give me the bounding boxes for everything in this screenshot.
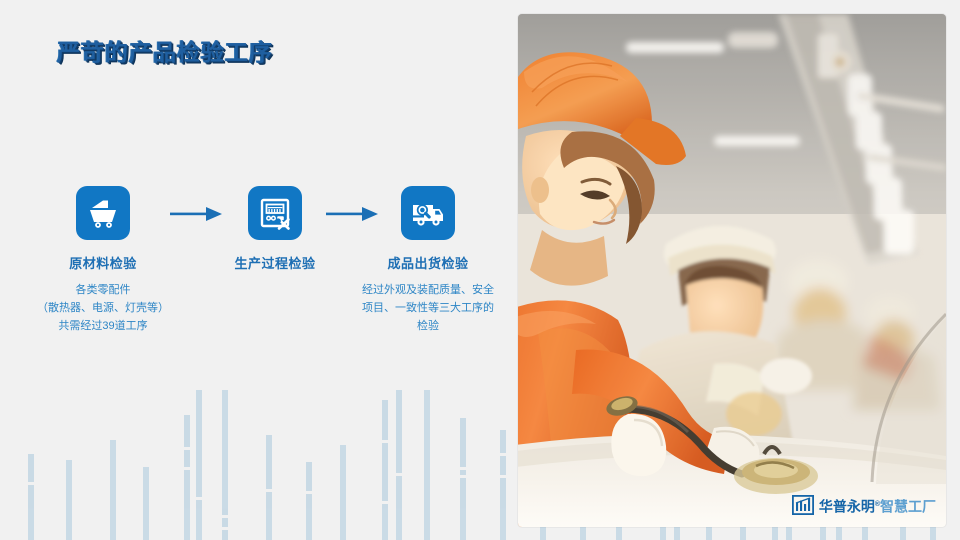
decorative-bar-gap xyxy=(184,447,190,450)
truck-inspection-icon xyxy=(401,186,455,240)
decorative-bar xyxy=(184,415,190,540)
decorative-bar xyxy=(28,454,34,540)
decorative-bar-gap xyxy=(222,527,228,530)
desc-line: 共需经过39道工序 xyxy=(8,317,198,335)
decorative-bar-gap xyxy=(266,489,272,492)
decorative-bar xyxy=(222,390,228,540)
process-step-description: 各类零配件 （散热器、电源、灯壳等） 共需经过39道工序 xyxy=(8,281,198,335)
decorative-bar-gap xyxy=(184,467,190,470)
desc-line: （散热器、电源、灯壳等） xyxy=(8,299,198,317)
decorative-bar xyxy=(110,440,116,540)
process-step-description: 经过外观及装配质量、安全 项目、一致性等三大工序的 检验 xyxy=(333,281,523,335)
decorative-bar xyxy=(396,390,402,540)
decorative-bar-gap xyxy=(396,473,402,476)
decorative-bar-gap xyxy=(382,440,388,443)
decorative-bar-gap xyxy=(196,497,202,500)
decorative-bar xyxy=(143,467,149,540)
page-title: 严苛的产品检验工序 xyxy=(57,33,273,67)
desc-line: 检验 xyxy=(333,317,523,335)
factory-logo-icon xyxy=(792,495,814,515)
brand-suffix: 智慧工厂 xyxy=(880,499,936,515)
decorative-bar xyxy=(196,390,202,540)
decorative-bar xyxy=(266,435,272,540)
decorative-bar-gap xyxy=(306,491,312,494)
inspection-process-flow: 原材料检验 各类零配件 （散热器、电源、灯壳等） 共需经过39道工序 xyxy=(0,186,512,366)
decorative-bar xyxy=(424,390,430,540)
process-step-label: 成品出货检验 xyxy=(333,253,523,272)
process-step-finished-goods[interactable]: 成品出货检验 经过外观及装配质量、安全 项目、一致性等三大工序的 检验 xyxy=(333,186,523,335)
decorative-bar-gap xyxy=(222,515,228,518)
decorative-bar xyxy=(500,430,506,540)
machine-tools-icon xyxy=(248,186,302,240)
process-step-label: 原材料检验 xyxy=(8,253,198,272)
decorative-bar xyxy=(460,418,466,540)
decorative-bar xyxy=(66,460,72,540)
decorative-bar-gap xyxy=(460,467,466,470)
material-cart-icon xyxy=(76,186,130,240)
decorative-bar-gap xyxy=(460,475,466,478)
decorative-bar xyxy=(382,400,388,540)
desc-line: 项目、一致性等三大工序的 xyxy=(333,299,523,317)
slide-canvas: 严苛的产品检验工序 原材料检验 各类零配件 （散热器、电源、灯壳等） 共 xyxy=(0,0,960,540)
decorative-bar-gap xyxy=(382,501,388,504)
desc-line: 经过外观及装配质量、安全 xyxy=(333,281,523,299)
brand-wordmark: 华普永明®智慧工厂 xyxy=(819,497,936,515)
desc-line: 各类零配件 xyxy=(8,281,198,299)
brand-name: 华普永明 xyxy=(819,499,875,515)
decorative-bar xyxy=(340,445,346,540)
decorative-bar xyxy=(306,462,312,540)
decorative-bar-gap xyxy=(500,453,506,456)
decorative-bar-gap xyxy=(28,482,34,485)
brand-logo: 华普永明®智慧工厂 xyxy=(792,495,936,515)
factory-inspection-photo: 华普永明®智慧工厂 xyxy=(518,14,946,527)
decorative-bar-gap xyxy=(500,475,506,478)
